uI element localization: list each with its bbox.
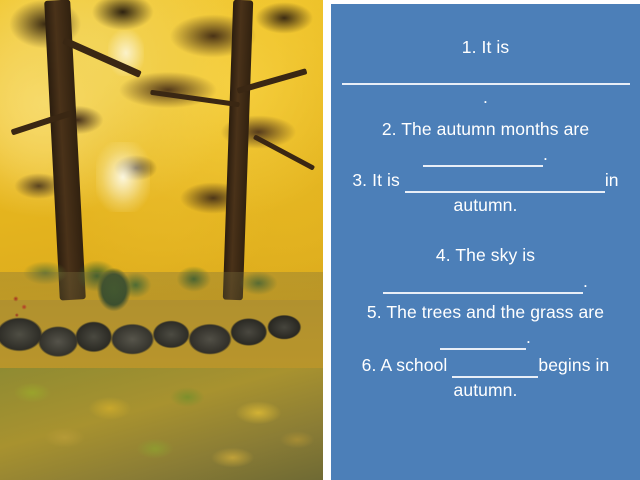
item-number: 6. [362,355,377,375]
slide: 1. It is . 2. The autumn months are. 3. … [0,0,640,480]
red-berries [8,292,34,326]
item-text-after: . [483,87,488,107]
exercise-list: 1. It is . 2. The autumn months are. 3. … [337,35,634,403]
item-number: 4. [436,245,451,265]
item-text-before: The sky is [455,245,535,265]
exercise-item-2: 2. The autumn months are. [337,117,634,167]
item-text-after: . [583,271,588,291]
item-text-after: . [543,144,548,164]
item-number: 5. [367,302,382,322]
item-text-before: The autumn months are [401,119,589,139]
item-text-before: It is [482,37,510,57]
item-number: 2. [382,119,397,139]
item-text-after: . [526,327,531,347]
item-text-before: The trees and the grass are [386,302,604,322]
answer-blank[interactable] [452,357,538,378]
exercise-item-1: 1. It is . [337,35,634,111]
sky-gap [96,142,150,212]
fallen-leaves-ground [0,368,323,480]
item-text-before: It is [372,170,400,190]
exercise-item-3: 3. It is in autumn. [337,168,634,218]
answer-blank[interactable] [405,172,605,193]
item-text-before: A school [380,355,447,375]
answer-blank[interactable] [342,64,630,85]
text-panel: 1. It is . 2. The autumn months are. 3. … [331,4,640,480]
item-number: 1. [462,37,477,57]
item-number: 3. [352,170,367,190]
exercise-item-6: 6. A school begins in autumn. [337,353,634,403]
exercise-item-5: 5. The trees and the grass are . [337,300,634,350]
answer-blank[interactable] [423,146,543,167]
exercise-item-4: 4. The sky is . [337,243,634,293]
answer-blank[interactable] [383,272,583,293]
autumn-photo [0,0,323,480]
answer-blank[interactable] [440,329,526,350]
